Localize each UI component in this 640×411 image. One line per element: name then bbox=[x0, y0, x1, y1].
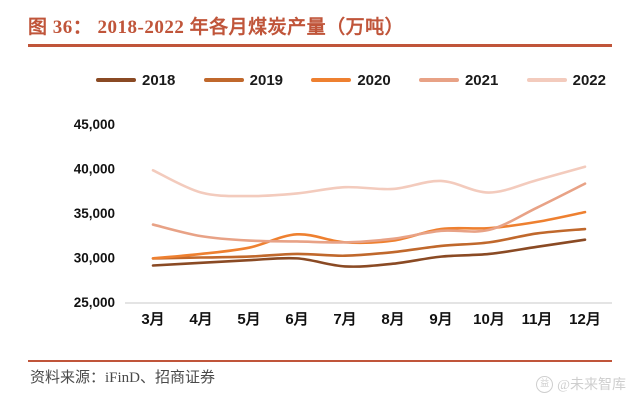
legend-label-2022: 2022 bbox=[573, 72, 606, 89]
x-tick-label: 3月 bbox=[141, 311, 164, 328]
x-tick-label: 6月 bbox=[285, 311, 308, 328]
x-tick-label: 12月 bbox=[569, 311, 601, 328]
chart-legend: 2018 2019 2020 2021 2022 bbox=[96, 68, 606, 92]
legend-item-2018: 2018 bbox=[96, 72, 175, 89]
y-tick-label: 25,000 bbox=[74, 295, 115, 310]
figure-root: 图 36： 2018-2022 年各月煤炭产量（万吨） 2018 2019 20… bbox=[0, 0, 640, 411]
series-line-2021 bbox=[153, 184, 585, 243]
source-note: 资料来源：iFinD、招商证券 bbox=[30, 366, 215, 387]
x-axis-tick-labels: 3月4月5月6月7月8月9月10月11月12月 bbox=[141, 311, 601, 328]
legend-label-2020: 2020 bbox=[357, 72, 390, 89]
x-tick-label: 5月 bbox=[237, 311, 260, 328]
y-axis-tick-labels: 25,00030,00035,00040,00045,000 bbox=[74, 117, 115, 310]
series-line-2022 bbox=[153, 167, 585, 196]
x-tick-label: 7月 bbox=[333, 311, 356, 328]
legend-swatch-2019 bbox=[204, 78, 244, 82]
watermark-text: @未来智库 bbox=[557, 374, 626, 394]
legend-label-2019: 2019 bbox=[250, 72, 283, 89]
watermark: 益 @未来智库 bbox=[536, 374, 626, 394]
chart-series-group bbox=[153, 167, 585, 267]
legend-swatch-2021 bbox=[419, 78, 459, 82]
title-divider bbox=[28, 44, 612, 47]
legend-label-2018: 2018 bbox=[142, 72, 175, 89]
title-block: 图 36： 2018-2022 年各月煤炭产量（万吨） bbox=[28, 16, 612, 47]
chart-plot-area: 25,00030,00035,00040,00045,000 3月4月5月6月7… bbox=[0, 100, 640, 340]
x-tick-label: 10月 bbox=[473, 311, 505, 328]
x-tick-label: 4月 bbox=[189, 311, 212, 328]
watermark-logo-icon: 益 bbox=[536, 376, 553, 393]
legend-item-2022: 2022 bbox=[527, 72, 606, 89]
y-tick-label: 45,000 bbox=[74, 117, 115, 132]
legend-swatch-2018 bbox=[96, 78, 136, 82]
x-tick-label: 11月 bbox=[522, 311, 553, 328]
y-tick-label: 30,000 bbox=[74, 251, 115, 266]
y-tick-label: 35,000 bbox=[74, 206, 115, 221]
legend-item-2019: 2019 bbox=[204, 72, 283, 89]
legend-swatch-2020 bbox=[311, 78, 351, 82]
legend-label-2021: 2021 bbox=[465, 72, 498, 89]
legend-item-2021: 2021 bbox=[419, 72, 498, 89]
page-title: 图 36： 2018-2022 年各月煤炭产量（万吨） bbox=[28, 16, 612, 40]
footer-divider bbox=[28, 360, 612, 362]
legend-swatch-2022 bbox=[527, 78, 567, 82]
x-tick-label: 9月 bbox=[429, 311, 452, 328]
y-tick-label: 40,000 bbox=[74, 162, 115, 177]
line-chart-svg: 25,00030,00035,00040,00045,000 3月4月5月6月7… bbox=[0, 100, 640, 340]
legend-item-2020: 2020 bbox=[311, 72, 390, 89]
x-tick-label: 8月 bbox=[381, 311, 404, 328]
